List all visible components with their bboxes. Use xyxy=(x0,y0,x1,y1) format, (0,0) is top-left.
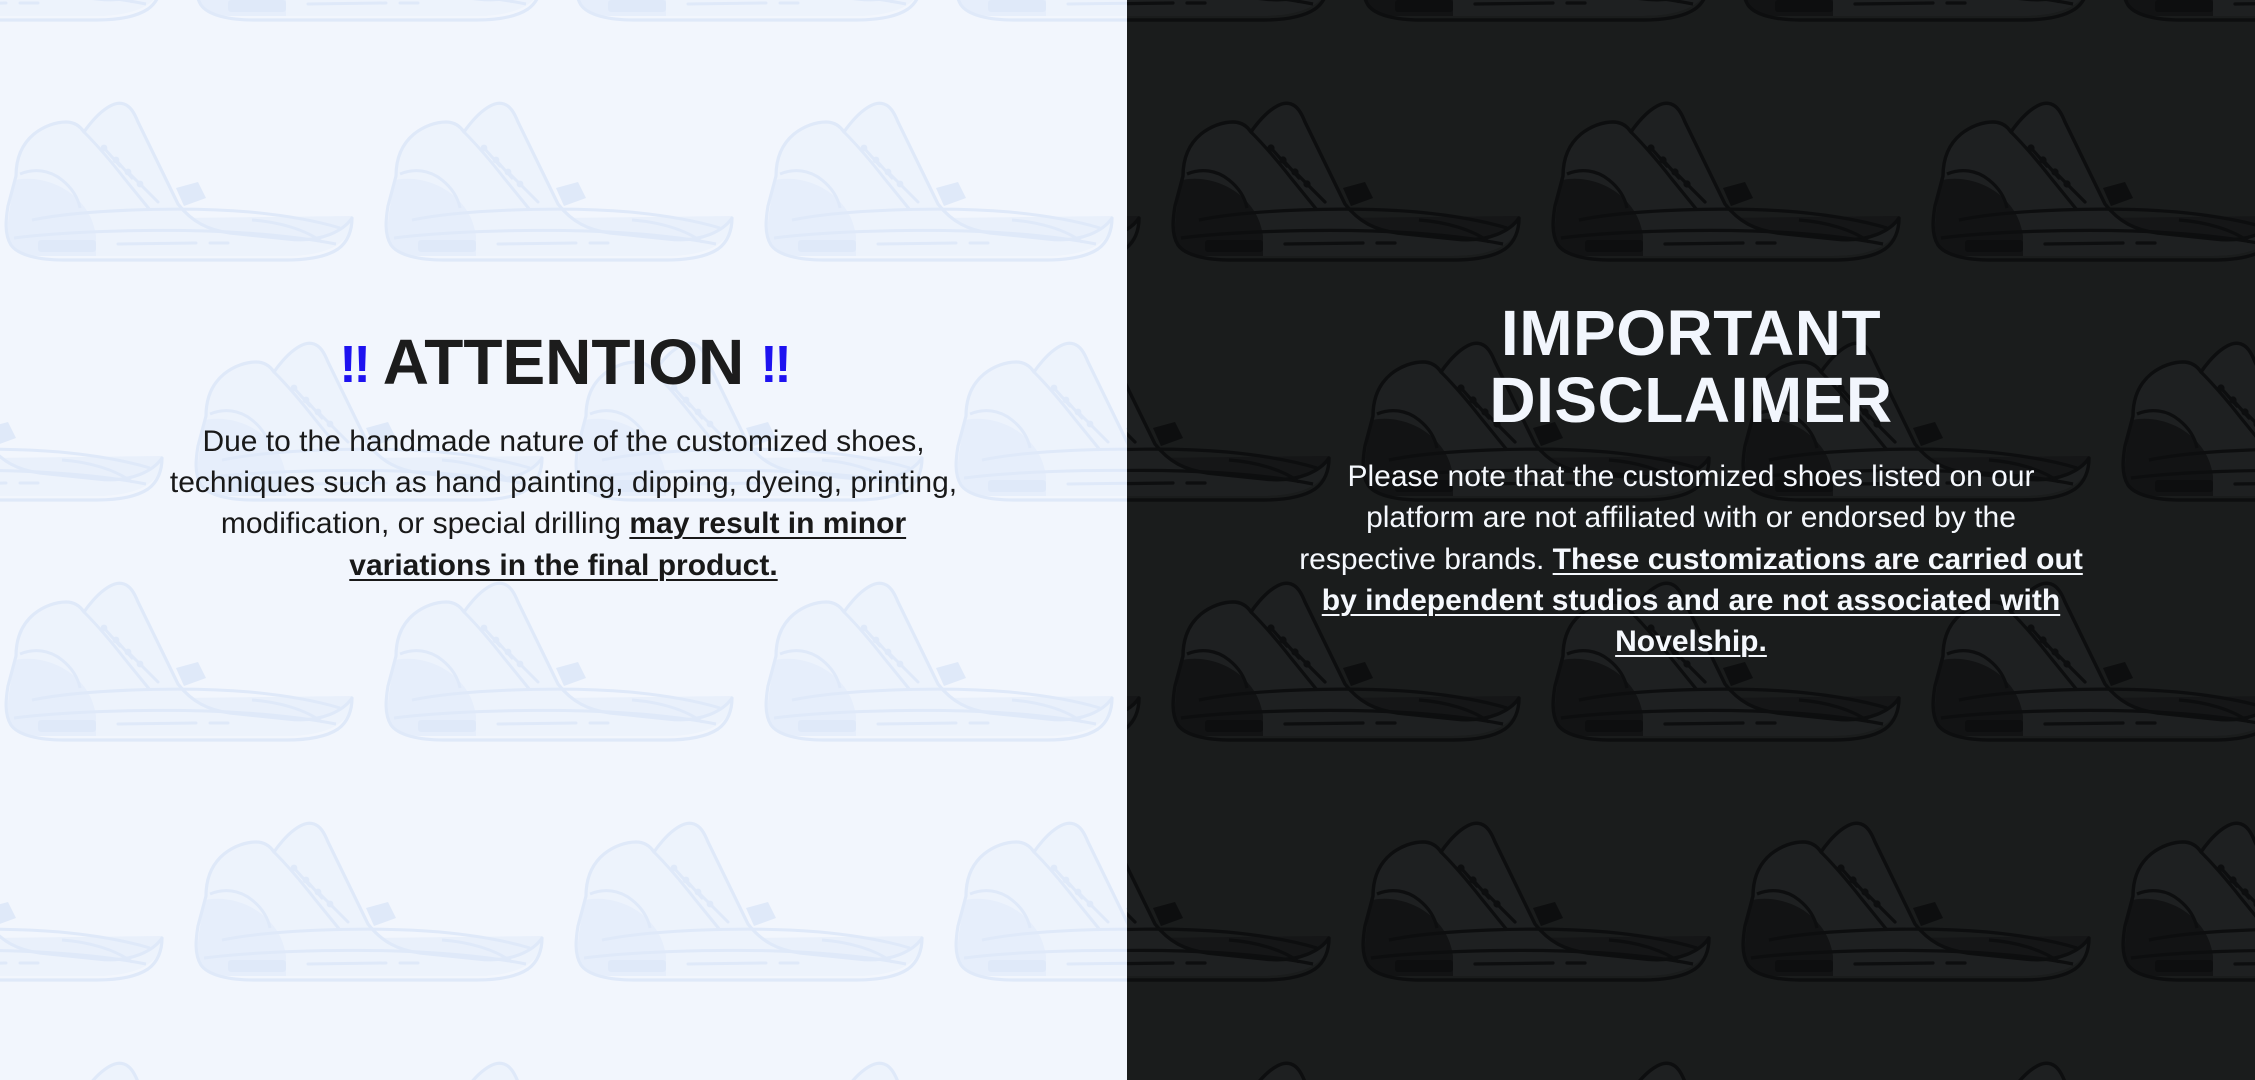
disclaimer-headline-line-1: IMPORTANT xyxy=(1501,297,1881,369)
attention-body-text: Due to the handmade nature of the custom… xyxy=(169,421,959,585)
disclaimer-headline: IMPORTANT DISCLAIMER xyxy=(1489,300,1892,434)
attention-headline: ‼ATTENTION‼ xyxy=(323,330,803,395)
double-exclamation-icon-left: ‼ xyxy=(339,339,366,392)
disclaimer-headline-line-2: DISCLAIMER xyxy=(1489,364,1892,436)
disclaimer-panel: IMPORTANT DISCLAIMER Please note that th… xyxy=(1127,0,2255,1080)
disclaimer-content: IMPORTANT DISCLAIMER Please note that th… xyxy=(1127,0,2255,662)
attention-content: ‼ATTENTION‼ Due to the handmade nature o… xyxy=(0,0,1127,586)
attention-disclaimer-banner: ‼ATTENTION‼ Due to the handmade nature o… xyxy=(0,0,2255,1080)
attention-headline-text: ATTENTION xyxy=(383,326,744,398)
disclaimer-body-text: Please note that the customized shoes li… xyxy=(1296,456,2086,661)
double-exclamation-icon-right: ‼ xyxy=(760,339,787,392)
attention-panel: ‼ATTENTION‼ Due to the handmade nature o… xyxy=(0,0,1127,1080)
